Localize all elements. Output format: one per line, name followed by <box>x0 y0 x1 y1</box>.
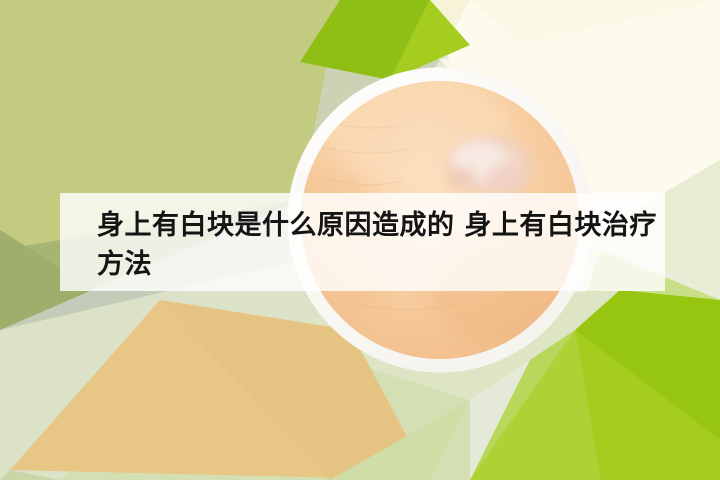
image-canvas: 身上有白块是什么原因造成的 身上有白块治疗方法 <box>0 0 720 480</box>
page-title: 身上有白块是什么原因造成的 身上有白块治疗方法 <box>97 206 657 284</box>
text-overlay: 身上有白块是什么原因造成的 身上有白块治疗方法 <box>0 0 720 480</box>
